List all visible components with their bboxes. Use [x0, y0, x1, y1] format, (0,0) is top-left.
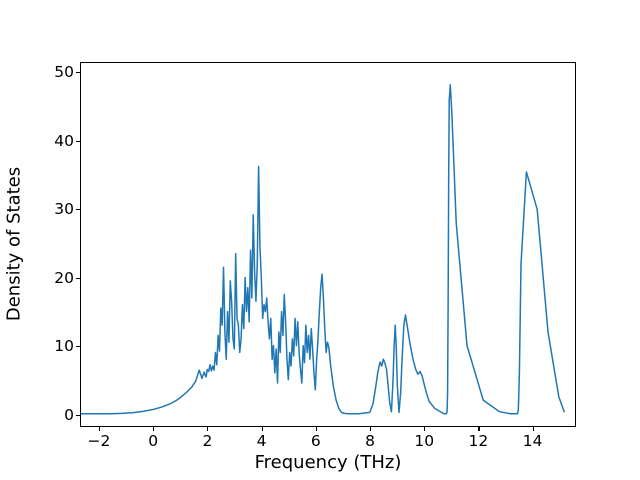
y-tickmark	[76, 72, 80, 73]
x-tickmark	[262, 427, 263, 431]
dos-curve	[81, 85, 564, 414]
y-tick-label: 20	[54, 269, 74, 287]
x-tick-label: 4	[257, 432, 267, 450]
x-tick-label: 6	[311, 432, 321, 450]
x-tickmark	[533, 427, 534, 431]
x-tickmark	[316, 427, 317, 431]
x-tick-label: −2	[88, 432, 111, 450]
y-tickmark	[76, 209, 80, 210]
x-tick-label: 2	[202, 432, 212, 450]
x-tick-label: 14	[523, 432, 543, 450]
x-tick-label: 0	[148, 432, 158, 450]
x-tick-label: 12	[469, 432, 489, 450]
y-tick-label: 30	[54, 200, 74, 218]
figure-canvas: −202468101214 01020304050 Frequency (THz…	[0, 0, 640, 480]
x-tick-label: 8	[365, 432, 375, 450]
x-tickmark	[424, 427, 425, 431]
x-tickmark	[370, 427, 371, 431]
y-tickmark	[76, 141, 80, 142]
y-tick-label: 10	[54, 337, 74, 355]
y-tickmark	[76, 346, 80, 347]
x-tickmark	[99, 427, 100, 431]
x-tick-label: 10	[414, 432, 434, 450]
plot-axes	[80, 62, 576, 427]
y-axis-label: Density of States	[4, 167, 25, 321]
y-tick-label: 0	[64, 406, 74, 424]
x-tickmark	[207, 427, 208, 431]
x-tickmark	[153, 427, 154, 431]
x-axis-label: Frequency (THz)	[255, 452, 402, 473]
y-tick-label: 50	[54, 63, 74, 81]
y-tickmark	[76, 415, 80, 416]
y-tickmark	[76, 278, 80, 279]
x-tickmark	[478, 427, 479, 431]
dos-line-chart	[81, 63, 575, 426]
y-tick-label: 40	[54, 132, 74, 150]
